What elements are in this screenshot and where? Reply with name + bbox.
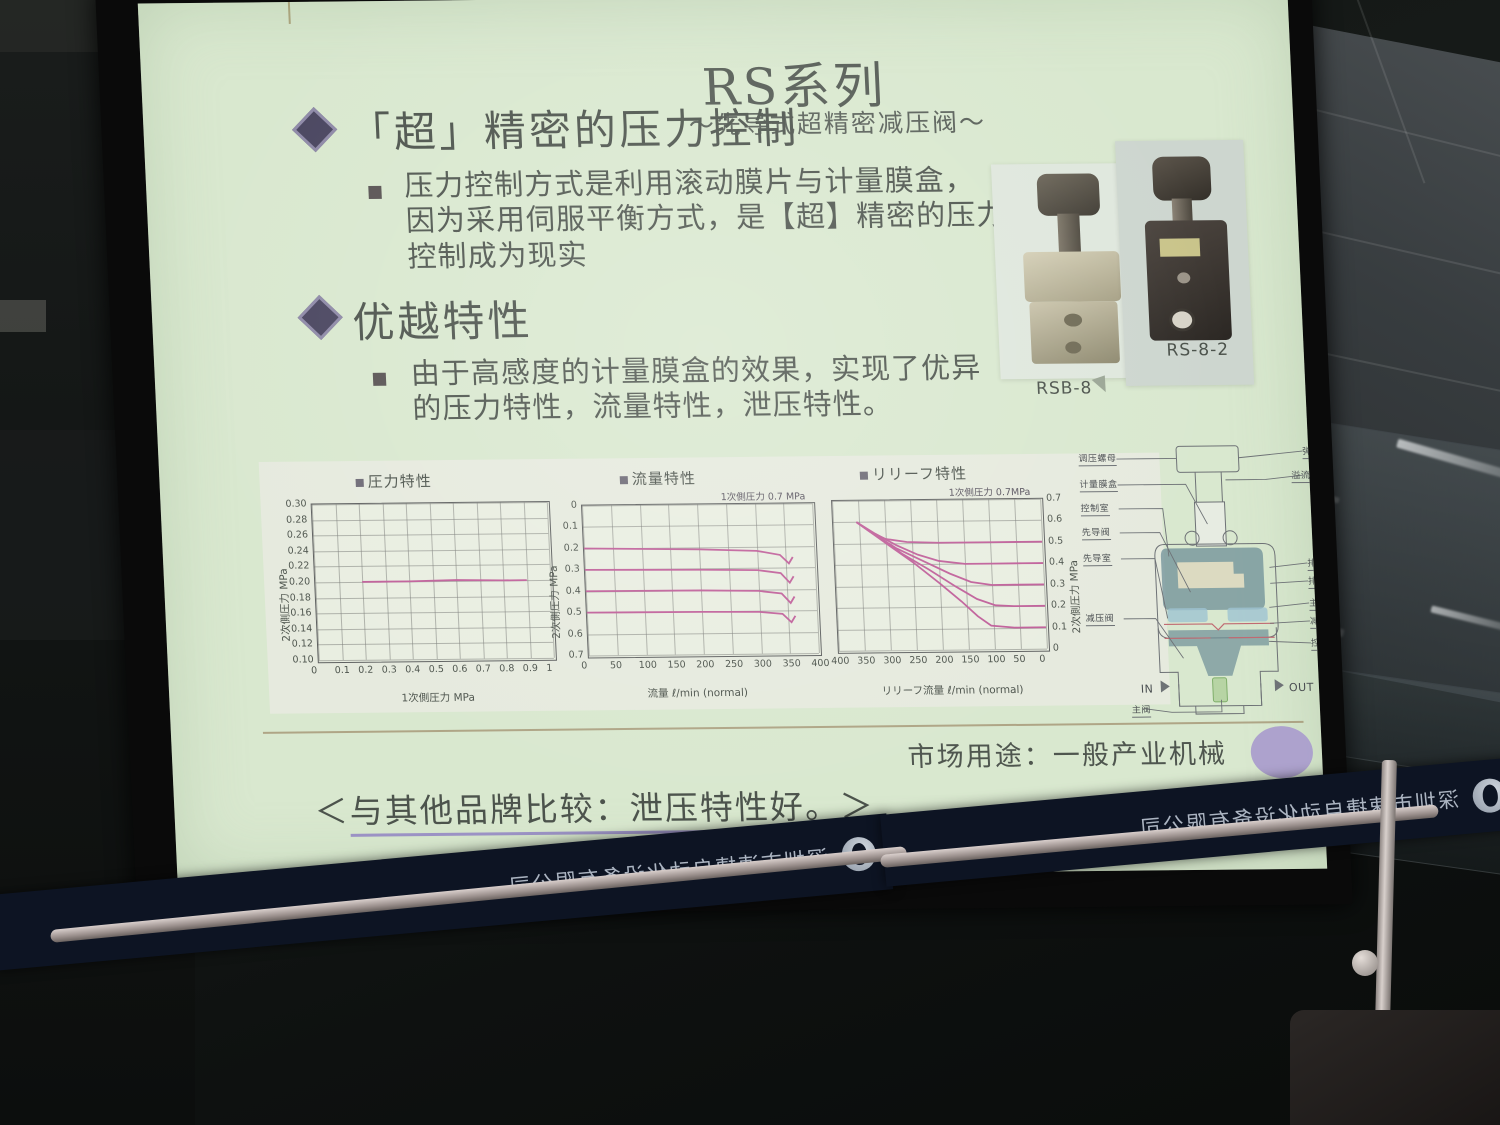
chart-xtick: 1 [546, 663, 553, 674]
chart-xtick: 0.1 [334, 665, 350, 676]
chart-ytick: 0.30 [284, 499, 307, 510]
cut-label-left-2: 控制室 [1080, 501, 1109, 516]
bullet-square-icon [373, 373, 387, 386]
chart1-plot [311, 501, 557, 663]
chart-ytick: 0.14 [290, 623, 313, 634]
chart-ytick: 0.3 [1050, 578, 1066, 589]
chart-xtick: 0 [1039, 654, 1046, 665]
swirl-logo-icon [1471, 777, 1500, 814]
section2-body-line2: 的压力特性，流量特性，泄压特性。 [412, 386, 984, 427]
chair [1290, 1010, 1500, 1125]
chart-ytick: 0.18 [289, 592, 312, 603]
bullet-square-icon [368, 186, 382, 199]
chart-ytick: 0.5 [1048, 535, 1064, 546]
chart-series-line [585, 568, 794, 585]
chart1-title: 圧力特性 [355, 470, 432, 492]
chart-ytick: 0.2 [557, 542, 580, 553]
footer-divider [263, 721, 1304, 733]
chart-series-line [362, 579, 527, 582]
chart-ytick: 0.22 [287, 561, 310, 572]
chart-series-line [584, 546, 793, 565]
chart-ytick: 0.1 [1052, 621, 1068, 632]
chart-series-line [856, 520, 1044, 586]
chart2-title: 流量特性 [619, 467, 696, 489]
chart-xtick: 200 [696, 659, 715, 670]
chart-xtick: 0.8 [499, 663, 515, 674]
section2-body-line1: 由于高感度的计量膜盒的效果，实现了优异 [410, 351, 982, 392]
chart-xtick: 0.4 [405, 664, 421, 675]
port-in-label: IN [1141, 683, 1154, 696]
chart-ytick: 0.1 [556, 521, 579, 532]
cut-label-bottom: 主阀 [1131, 703, 1151, 718]
chart-ytick: 0 [1053, 643, 1060, 654]
chart-ytick: 0 [555, 500, 578, 511]
valve-knob [1152, 156, 1212, 201]
valve-body-lower [1029, 301, 1120, 364]
chart-ytick: 0.5 [560, 607, 583, 618]
arrow-out-icon [1275, 679, 1285, 691]
bullet-diamond-icon [298, 295, 343, 340]
chart-xtick: 0.6 [452, 664, 468, 675]
chart-xtick: 150 [961, 654, 980, 665]
mouse-cursor-icon [1092, 375, 1111, 395]
port-out-label: OUT [1289, 681, 1315, 694]
chart-xtick: 350 [857, 655, 876, 666]
chart-xtick: 0.3 [381, 664, 397, 675]
chart3-xlabel: リリーフ流量 ℓ/min (normal) [881, 682, 1023, 698]
valve-knob [1036, 173, 1100, 216]
section1-body-line2: 因为采用伺服平衡方式，是【超】精密的压力 [405, 198, 1007, 240]
chart-xtick: 0.2 [358, 665, 374, 676]
bullet-diamond-icon [292, 107, 337, 152]
chart-xtick: 0.5 [429, 664, 445, 675]
valve-stem [1057, 214, 1081, 254]
chart3-title: リリーフ特性 [859, 463, 967, 485]
cut-label-left-1: 计量膜盒 [1079, 477, 1118, 492]
cut-label-left-3: 先导阀 [1081, 525, 1110, 540]
chart-xtick: 300 [754, 659, 773, 670]
section1-body-line3: 控制成为现实 [407, 233, 1009, 275]
chart-series-line [587, 610, 796, 624]
rail-post-cap [1352, 950, 1378, 976]
chart-xtick: 350 [782, 658, 801, 669]
chart2-plot [581, 502, 822, 658]
section2-heading: 优越特性 [351, 287, 534, 350]
chart-ytick: 0.6 [1047, 514, 1063, 525]
chart-ytick: 0.4 [1049, 557, 1065, 568]
valve-port [1065, 341, 1082, 353]
chart-xtick: 0.9 [523, 663, 539, 674]
chart-ytick: 0.10 [291, 654, 314, 665]
chart-ytick: 0.12 [291, 639, 314, 650]
chart-xtick: 400 [831, 656, 850, 667]
chart-xtick: 100 [987, 654, 1006, 665]
valve-port [1064, 313, 1083, 326]
purple-blob-marker [1250, 726, 1314, 779]
valve-cutaway-diagram: 调压螺母 计量膜盒 控制室 先导阀 先导室 减压阀 弹簧 溢流室控制膜片 排气膜… [1063, 431, 1327, 719]
chart-xtick: 0.7 [476, 663, 492, 674]
market-usage: 市场用途：一般产业机械 [907, 732, 1228, 774]
chart-series-line [586, 589, 795, 605]
cut-label-left-0: 调压螺母 [1078, 451, 1117, 466]
cut-label-left-5: 减压阀 [1085, 611, 1114, 626]
slide-surface: RS系列 ～先导式超精密减压阀～ 「超」精密的压力控制 压力控制方式是利用滚动膜… [138, 0, 1327, 881]
chart3-plot [831, 498, 1050, 654]
projection-screen: RS系列 ～先导式超精密减压阀～ 「超」精密的压力控制 压力控制方式是利用滚动膜… [95, 0, 1353, 917]
chart-xtick: 0 [311, 665, 318, 676]
chart-ytick: 0.26 [286, 530, 309, 541]
valve-body-upper [1023, 251, 1121, 302]
chart-ytick: 0.7 [1046, 493, 1062, 504]
wall-outlet [0, 300, 46, 332]
compare-open-bracket: ＜ [314, 792, 351, 831]
chart-ytick: 0.6 [561, 628, 584, 639]
section1-heading: 「超」精密的压力控制 [347, 95, 800, 161]
chart-xtick: 300 [883, 655, 902, 666]
chart-xtick: 400 [811, 658, 830, 669]
chart-xtick: 150 [667, 659, 686, 670]
chart3-annotation: 1次側圧力 0.7MPa [948, 484, 1030, 499]
chart-xtick: 200 [935, 655, 954, 666]
valve-nameplate [1159, 238, 1200, 256]
chart-ytick: 0.3 [558, 564, 581, 575]
chart-ytick: 0.28 [285, 514, 308, 525]
chart-ytick: 0.4 [559, 585, 582, 596]
valve-port [1177, 272, 1191, 283]
stray-mark [288, 2, 291, 24]
chart-xtick: 250 [725, 659, 744, 670]
chart-xtick: 250 [909, 655, 928, 666]
valve-port [1169, 308, 1196, 331]
chart-ytick: 0.2 [1051, 600, 1067, 611]
chart-ytick: 0.7 [561, 650, 584, 661]
valve-photo-rsb8-label: RSB-8 [1036, 378, 1093, 399]
chart-xtick: 50 [1013, 654, 1026, 665]
chart-xtick: 100 [639, 660, 658, 671]
chart-xtick: 0 [581, 660, 588, 671]
chart-ytick: 0.20 [288, 576, 311, 587]
chart-ytick: 0.24 [286, 545, 309, 556]
section1-body: 压力控制方式是利用滚动膜片与计量膜盒， 因为采用伺服平衡方式，是【超】精密的压力… [404, 162, 1009, 274]
photo-of-projected-slide: RS系列 ～先导式超精密减压阀～ 「超」精密的压力控制 压力控制方式是利用滚动膜… [0, 0, 1500, 1125]
chart1-xlabel: 1次側圧力 MPa [401, 690, 475, 706]
section2-body: 由于高感度的计量膜盒的效果，实现了优异 的压力特性，流量特性，泄压特性。 [410, 351, 984, 428]
arrow-in-icon [1161, 680, 1171, 692]
valve-photo-rs82-label: RS-8-2 [1166, 340, 1229, 361]
chart2-xlabel: 流量 ℓ/min (normal) [647, 685, 748, 701]
cut-label-left-4: 先导室 [1083, 551, 1112, 566]
chart-ytick: 0.16 [289, 608, 312, 619]
chart2-annotation: 1次側圧力 0.7 MPa [720, 488, 805, 503]
chart-xtick: 50 [610, 660, 623, 671]
